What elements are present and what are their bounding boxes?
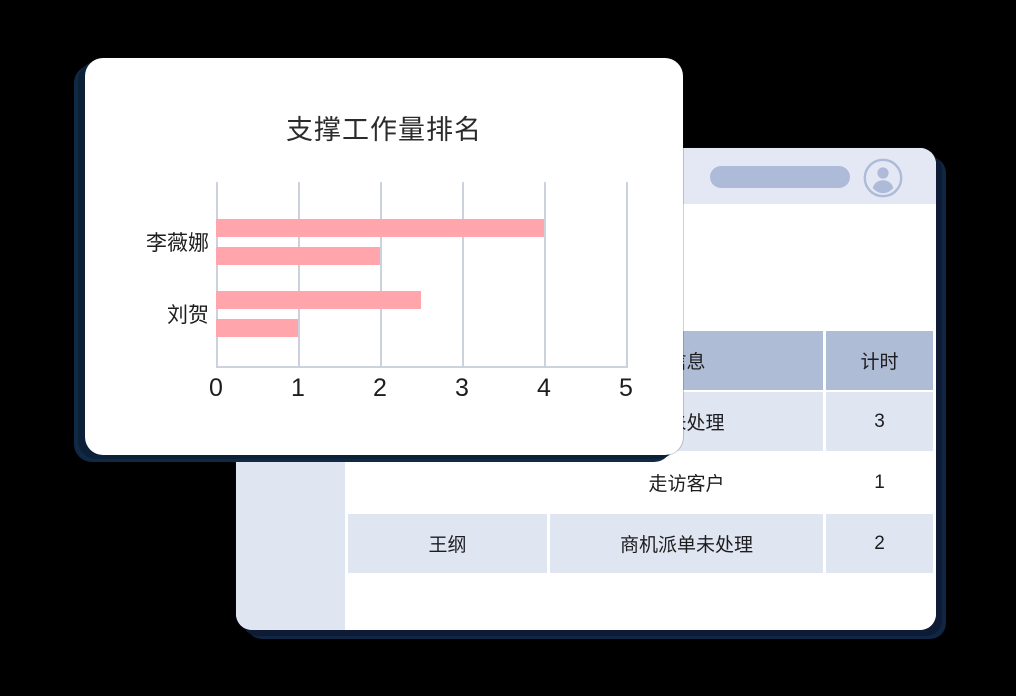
x-tick-4: 4 — [524, 374, 564, 403]
x-tick-2: 2 — [360, 374, 400, 403]
chart-x-axis-line — [216, 366, 628, 368]
gridline-1 — [298, 182, 300, 366]
chart-plot-area — [216, 182, 627, 366]
user-avatar-icon[interactable] — [863, 158, 903, 198]
bar-lwn-series2 — [216, 247, 380, 265]
chart-title: 支撑工作量排名 — [85, 108, 683, 147]
x-tick-5: 5 — [606, 374, 646, 403]
bar-lwn-series1 — [216, 219, 544, 237]
table-row[interactable]: 王纲 商机派单未处理 2 — [348, 514, 933, 573]
x-tick-1: 1 — [278, 374, 318, 403]
y-axis-label-1: 刘贺 — [167, 299, 209, 329]
cell-timer: 2 — [826, 514, 933, 573]
x-tick-3: 3 — [442, 374, 482, 403]
cell-info: 走访客户 — [550, 453, 823, 512]
gridline-5 — [626, 182, 628, 366]
search-input[interactable] — [710, 166, 850, 188]
chart-x-axis-labels: 0 1 2 3 4 5 — [216, 374, 628, 408]
cell-name — [348, 453, 547, 512]
bar-lh-series1 — [216, 291, 421, 309]
y-axis-label-0: 李薇娜 — [146, 227, 209, 257]
gridline-0 — [216, 182, 218, 366]
bar-lh-series2 — [216, 319, 298, 337]
chart-card: 支撑工作量排名 李薇娜 刘贺 0 1 2 3 4 5 — [85, 58, 683, 455]
x-tick-0: 0 — [196, 374, 236, 403]
cell-timer: 3 — [826, 392, 933, 451]
gridline-4 — [544, 182, 546, 366]
cell-info: 商机派单未处理 — [550, 514, 823, 573]
table-row[interactable]: 走访客户 1 — [348, 453, 933, 512]
gridline-2 — [380, 182, 382, 366]
table-header-timer: 计时 — [826, 331, 933, 390]
cell-name: 王纲 — [348, 514, 547, 573]
chart-y-axis-labels: 李薇娜 刘贺 — [105, 182, 209, 366]
gridline-3 — [462, 182, 464, 366]
cell-timer: 1 — [826, 453, 933, 512]
